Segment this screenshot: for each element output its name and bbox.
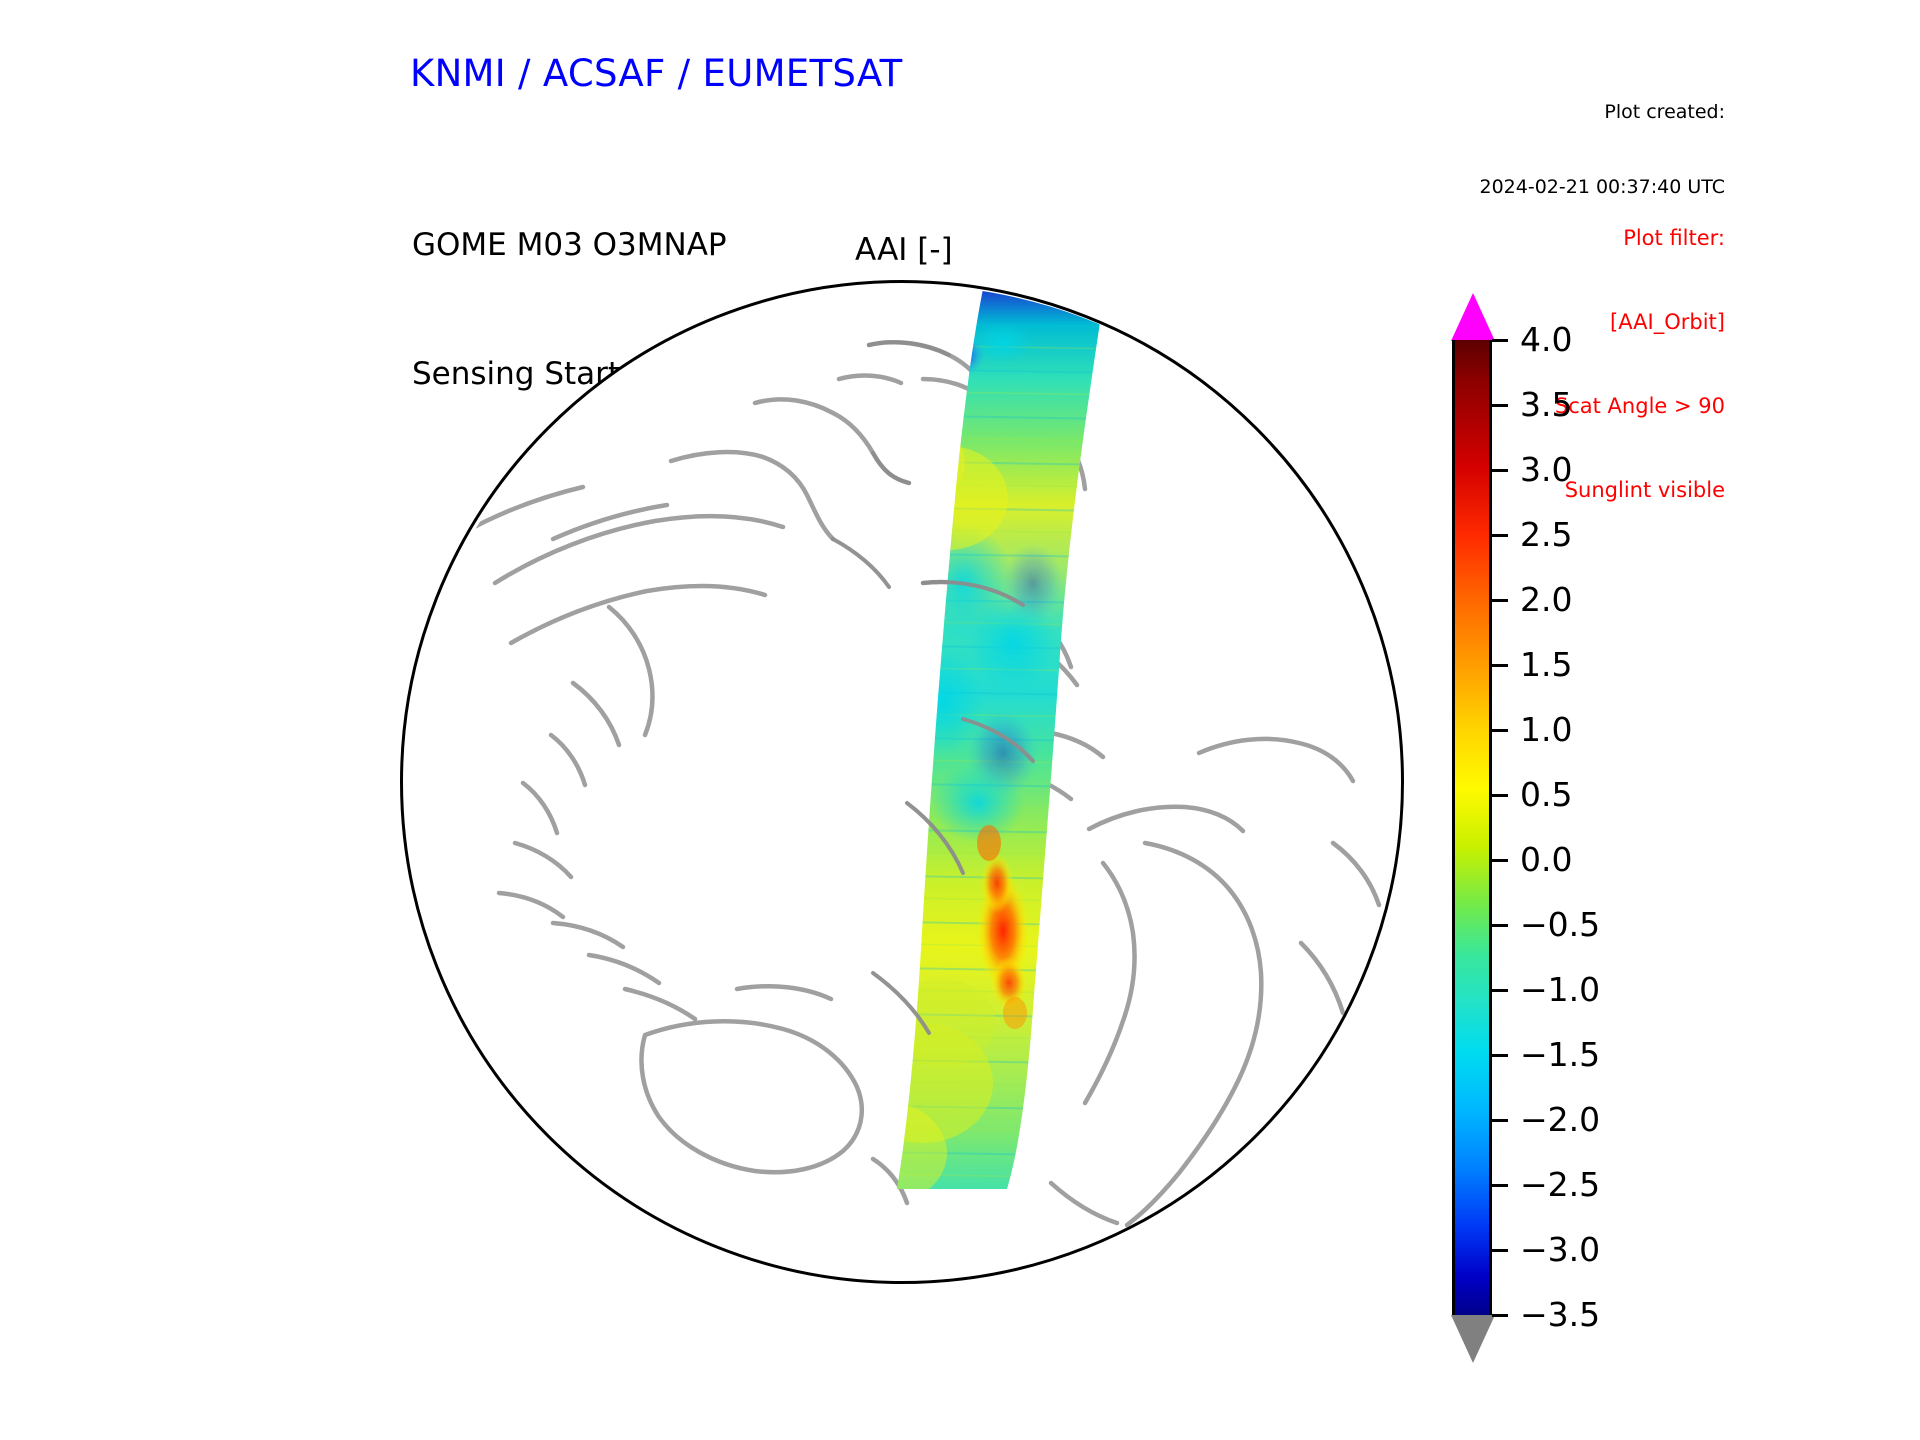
colorbar-tick-label: 1.0 bbox=[1520, 713, 1572, 746]
plot-created-label: Plot created: bbox=[1480, 100, 1726, 125]
satellite-swath bbox=[787, 289, 1123, 1262]
colorbar-tick-label: −3.0 bbox=[1520, 1233, 1600, 1266]
colorbar-tick bbox=[1492, 469, 1508, 472]
colorbar-tick-label: 0.5 bbox=[1520, 778, 1572, 811]
colorbar-tick bbox=[1492, 599, 1508, 602]
colorbar-tick bbox=[1492, 534, 1508, 537]
colorbar-tick bbox=[1492, 924, 1508, 927]
colorbar-over-arrow bbox=[1451, 293, 1495, 341]
product-title: GOME M03 O3MNAP bbox=[412, 224, 1050, 267]
colorbar-tick-label: −1.0 bbox=[1520, 973, 1600, 1006]
colorbar-tick bbox=[1492, 1314, 1508, 1317]
colorbar-tick bbox=[1492, 989, 1508, 992]
variable-title: AAI [-] bbox=[855, 232, 953, 268]
colorbar-tick-label: −3.5 bbox=[1520, 1298, 1600, 1331]
colorbar-tick-label: −2.5 bbox=[1520, 1168, 1600, 1201]
map-panel bbox=[400, 280, 1410, 1290]
colorbar-tick bbox=[1492, 1184, 1508, 1187]
colorbar-tick-label: 3.0 bbox=[1520, 453, 1572, 486]
colorbar-tick-label: 2.5 bbox=[1520, 518, 1572, 551]
colorbar-tick bbox=[1492, 1249, 1508, 1252]
organisation-title: KNMI / ACSAF / EUMETSAT bbox=[410, 52, 903, 95]
colorbar-under-arrow bbox=[1451, 1315, 1495, 1363]
colorbar-tick bbox=[1492, 339, 1508, 342]
colorbar-tick-label: 4.0 bbox=[1520, 323, 1572, 356]
colorbar: 4.03.53.02.52.01.51.00.50.0−0.5−1.0−1.5−… bbox=[1452, 285, 1752, 1295]
colorbar-tick bbox=[1492, 1119, 1508, 1122]
plot-filter-label: Plot filter: bbox=[1555, 224, 1725, 252]
map-svg bbox=[403, 283, 1404, 1284]
colorbar-gradient bbox=[1452, 340, 1492, 1315]
colorbar-tick bbox=[1492, 664, 1508, 667]
colorbar-tick bbox=[1492, 794, 1508, 797]
colorbar-tick-label: −0.5 bbox=[1520, 908, 1600, 941]
colorbar-tick-label: −2.0 bbox=[1520, 1103, 1600, 1136]
colorbar-tick-label: 1.5 bbox=[1520, 648, 1572, 681]
colorbar-tick-label: 2.0 bbox=[1520, 583, 1572, 616]
globe-orthographic-projection bbox=[400, 280, 1404, 1284]
colorbar-tick bbox=[1492, 729, 1508, 732]
colorbar-tick bbox=[1492, 1054, 1508, 1057]
colorbar-tick-label: −1.5 bbox=[1520, 1038, 1600, 1071]
colorbar-tick-label: 3.5 bbox=[1520, 388, 1572, 421]
colorbar-tick-label: 0.0 bbox=[1520, 843, 1572, 876]
map-contents bbox=[463, 289, 1379, 1262]
colorbar-tick bbox=[1492, 404, 1508, 407]
colorbar-tick bbox=[1492, 859, 1508, 862]
